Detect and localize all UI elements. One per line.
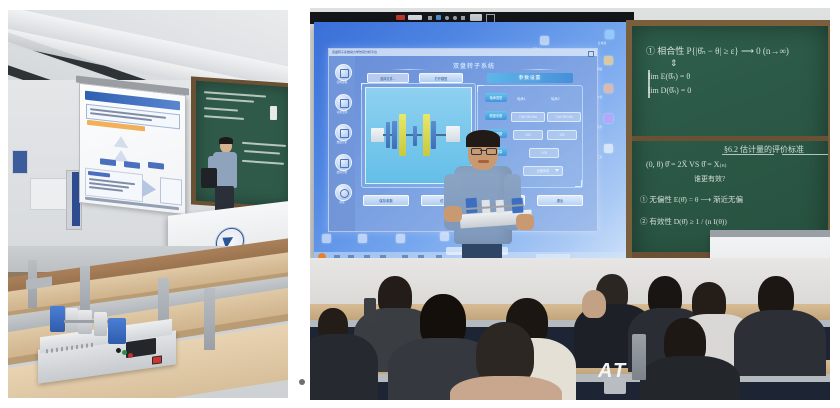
sidebar-label: 数据分析: [329, 140, 355, 144]
glasses-bridge-icon: [480, 150, 486, 151]
projector-screen: [80, 84, 185, 214]
desktop-icon[interactable]: [605, 30, 614, 39]
rotor-bearing-blue: [50, 306, 65, 332]
glasses-right-lens-icon: [486, 148, 497, 155]
chalk-line: lim E(θ̂ₙ) = θ: [648, 72, 690, 81]
slide-side-box: [160, 177, 182, 206]
student-shoulders: [450, 376, 562, 400]
slide-node: [124, 161, 140, 169]
app-sidebar: 结构建模 动态监测 数据分析 故障诊断 帮助: [329, 56, 355, 231]
app-heading: 双盘转子系统: [429, 61, 519, 70]
desktop-icon[interactable]: [540, 36, 549, 45]
settings-row: 转动惯量 0.09: [485, 147, 581, 156]
presenter-hand-left: [444, 206, 462, 222]
rotor-support: [386, 122, 390, 148]
rotor-disc-2: [423, 114, 430, 156]
row-value: 轴承1: [517, 96, 526, 101]
monitor-icon: [340, 99, 349, 108]
rotor-disc: [94, 312, 107, 336]
row-label: 刚度系数: [485, 111, 507, 120]
rotor-end-block: [446, 126, 460, 142]
chevron-down-icon: [555, 169, 559, 172]
row-input[interactable]: 150: [513, 130, 543, 140]
settings-row: 刚度系数 7.5e+08 N/m 7.5e+08 N/m: [485, 111, 581, 120]
wall-sign: [12, 150, 28, 174]
device-bearing-blue: [465, 198, 477, 214]
presenter-mouth: [478, 160, 489, 163]
row-label: 轴承类型: [485, 93, 507, 102]
student-shoulders: [310, 334, 378, 400]
sidebar-item-help[interactable]: [335, 184, 352, 201]
sidebar-item-diagnose[interactable]: [335, 154, 352, 171]
chalk-line: ② 有效性 D(θ̂) ≥ 1 / (n I(θ)): [640, 216, 727, 227]
overlay-label: [408, 15, 422, 20]
desktop-icon[interactable]: [604, 144, 613, 153]
desktop-icon[interactable]: [440, 232, 449, 241]
model-icon: [340, 69, 349, 78]
presenter-hair: [219, 137, 233, 144]
sidebar-label: 结构建模: [329, 80, 355, 84]
presenter-hand-right: [516, 214, 534, 230]
blackboard: [196, 81, 288, 208]
rotor-bearing: [392, 121, 397, 149]
chalk-line: 谁更有效?: [694, 174, 725, 184]
rotor-disc-1: [399, 114, 406, 156]
sidebar-label: 动态监测: [329, 110, 355, 114]
blackboard-divider: [632, 136, 828, 141]
student-shoulders: [734, 310, 826, 376]
overlay-icon: [445, 16, 449, 20]
save-params-button[interactable]: 保存参数: [363, 195, 409, 206]
rig-button-red[interactable]: [128, 353, 133, 358]
help-icon: [340, 189, 349, 198]
slide-node: [100, 158, 116, 166]
record-indicator-icon: [396, 15, 405, 20]
slide-diagram-arrow: [114, 135, 128, 148]
rotor-shaft-segment: [436, 134, 446, 136]
rotor-bearing-blue: [108, 318, 126, 344]
separator-dot: [299, 379, 305, 385]
thermos: [364, 298, 376, 324]
presenter-hair: [466, 130, 500, 147]
settings-header: 参数设置: [487, 73, 573, 83]
chalk-line: ① 无偏性 E(θ̂) = θ ⟶ 渐近无偏: [640, 194, 743, 205]
desk-bracket: [604, 378, 626, 394]
sidebar-label: 故障诊断: [329, 170, 355, 174]
presenter-laptop: [201, 168, 217, 188]
right-photo: 回收站 此电脑 网络 文档 软件 工具 双盘转子系统动力学仿真分析平台: [310, 8, 830, 400]
student-head-light: [582, 290, 606, 318]
collage-canvas: 回收站 此电脑 网络 文档 软件 工具 双盘转子系统动力学仿真分析平台: [0, 0, 840, 408]
overlay-icon: [461, 16, 465, 20]
rig-power-switch[interactable]: [152, 355, 162, 364]
rotor-bearing: [413, 126, 417, 146]
rig-button-black[interactable]: [116, 348, 121, 353]
open-model-button[interactable]: 打开模型: [419, 73, 463, 83]
file-path-input[interactable]: 选择文件…: [367, 73, 409, 83]
sidebar-item-structure[interactable]: [335, 64, 352, 81]
overlay-icon: [436, 15, 441, 20]
row-input[interactable]: 7.5e+08 N/m: [511, 112, 545, 122]
slide-funnel-icon: [142, 179, 156, 199]
desktop-icon[interactable]: [358, 234, 367, 243]
window-close-icon[interactable]: [588, 51, 594, 57]
app-title-bar: 双盘转子系统动力学仿真分析平台: [329, 49, 597, 56]
cabinet-top-edge: [710, 230, 830, 237]
heading-rule-right: [521, 69, 557, 70]
overlay-button[interactable]: [470, 14, 482, 21]
desktop-icon[interactable]: [604, 56, 613, 65]
chalk-line: lim D(θ̂ₙ) = 0: [648, 86, 691, 95]
sidebar-item-monitor[interactable]: [335, 94, 352, 111]
chart-icon: [340, 129, 349, 138]
student-shoulders: [640, 356, 740, 400]
row-input[interactable]: 7.5e+08 N/m: [547, 112, 581, 122]
overlay-icon: [453, 16, 457, 20]
desktop-icon-label: 此电脑: [598, 41, 606, 45]
row-value: 轴承2: [551, 96, 560, 101]
desktop-icon[interactable]: [604, 114, 613, 123]
door-panel: [72, 172, 80, 226]
chalk-line: ① 相合性 P{|θ̂ₙ − θ| ≥ ε} ⟶ 0 (n→∞): [646, 44, 789, 57]
sidebar-label: 帮助: [329, 200, 355, 204]
chalk-line: (0, θ) θ̂ = 2X̄ VS θ̂ = X₍ₙ₎: [646, 160, 727, 169]
row-input[interactable]: 150: [547, 130, 577, 140]
blackboard-eraser: [270, 106, 277, 120]
desktop-icon[interactable]: [396, 234, 405, 243]
desk-leg: [204, 288, 215, 350]
desktop-icon[interactable]: [604, 84, 613, 93]
water-bottle: [632, 334, 646, 380]
sidebar-item-analysis[interactable]: [335, 124, 352, 141]
row-input[interactable]: 0.09: [529, 148, 559, 158]
heading-rule-left: [391, 69, 427, 70]
exit-button[interactable]: 退出: [537, 195, 583, 206]
app-window-title: 双盘转子系统动力学仿真分析平台: [332, 50, 377, 54]
slide-node: [148, 162, 164, 170]
overlay-icon: [428, 16, 432, 20]
desktop-icon[interactable]: [322, 234, 331, 243]
rig-button-green[interactable]: [122, 350, 127, 355]
settings-row: 轴承类型 轴承1 轴承2: [485, 93, 581, 102]
blackboard: ① 相合性 P{|θ̂ₙ − θ| ≥ ε} ⟶ 0 (n→∞) ⇕ lim E…: [632, 26, 828, 264]
chalk-line: ⇕: [670, 58, 678, 69]
left-photo: [8, 10, 288, 398]
diagnose-icon: [340, 159, 349, 168]
